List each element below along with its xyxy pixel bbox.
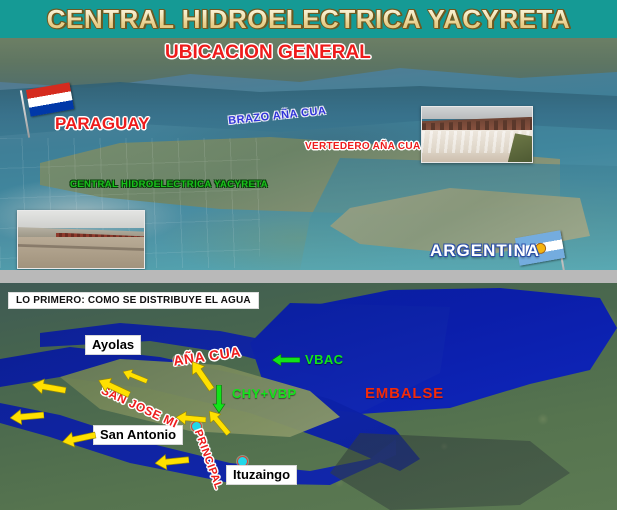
flow-label-vbac: VBAC bbox=[305, 352, 343, 367]
photo2-water bbox=[18, 237, 144, 268]
panel-divider bbox=[0, 270, 617, 283]
bottom-panel-heading: LO PRIMERO: COMO SE DISTRIBUYE EL AGUA bbox=[8, 292, 259, 309]
top-panel-heading: UBICACION GENERAL bbox=[165, 42, 371, 64]
flow-label-chy-vbp: CHY+VBP bbox=[232, 386, 297, 401]
page-title: CENTRAL HIDROELECTRICA YACYRETA bbox=[0, 0, 617, 38]
flow-arrow-7 bbox=[175, 410, 206, 428]
slide-root: CENTRAL HIDROELECTRICA YACYRETA UBICACIO… bbox=[0, 0, 617, 510]
vertedero-ana-cua-photo bbox=[421, 106, 533, 163]
satellite-backdrop-bottom bbox=[0, 283, 617, 510]
central-hidroelectrica-photo bbox=[17, 210, 145, 269]
place-label-ayolas: Ayolas bbox=[85, 335, 141, 355]
place-label-ituzaingo: Ituzaingo bbox=[226, 465, 297, 485]
top-satellite-image: UBICACION GENERAL PARAGUAY BRAZO AÑA CUA… bbox=[0, 38, 617, 270]
photo2-sky bbox=[18, 211, 144, 228]
bottom-satellite-image bbox=[0, 283, 617, 510]
label-central-hidroelectrica: CENTRAL HIDROELECTRICA YACYRETA bbox=[70, 179, 268, 190]
label-vertedero-ana-cua: VERTEDERO AÑA CUA bbox=[305, 141, 420, 152]
flow-arrow-4 bbox=[9, 407, 44, 427]
title-banner: CENTRAL HIDROELECTRICA YACYRETA bbox=[0, 0, 617, 38]
label-paraguay: PARAGUAY bbox=[55, 114, 149, 134]
flow-arrow-6 bbox=[154, 451, 190, 471]
photo-sky bbox=[422, 107, 532, 119]
inflow-arrow-vbac bbox=[272, 353, 300, 367]
label-argentina: ARGENTINA bbox=[430, 241, 540, 261]
river-label-embalse: EMBALSE bbox=[365, 385, 444, 402]
